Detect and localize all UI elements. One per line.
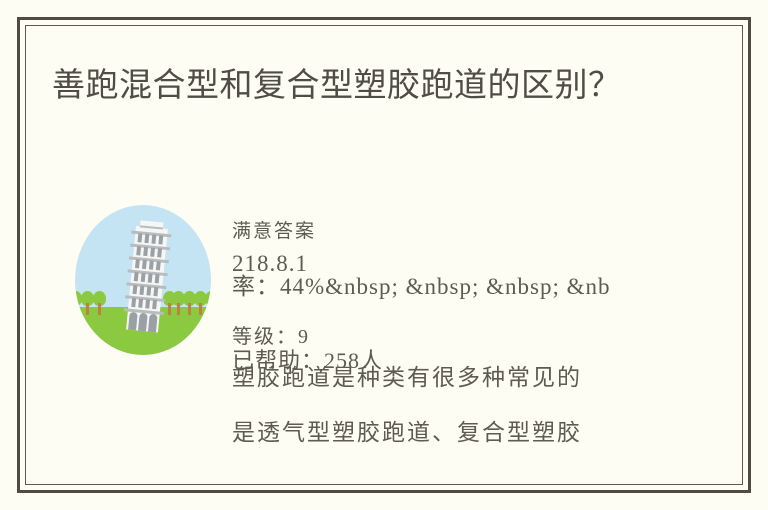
answer-body-line-1: 塑胶跑道是种类有很多种常见的 — [232, 358, 582, 392]
tree-icon — [75, 291, 88, 315]
answer-body-line-2: 是透气型塑胶跑道、复合型塑胶 — [232, 413, 582, 447]
tower-archway — [138, 313, 148, 332]
answer-page: 善跑混合型和复合型塑胶跑道的区别？ — [0, 0, 768, 510]
tower-archway — [128, 312, 138, 331]
page-title: 善跑混合型和复合型塑胶跑道的区别？ — [52, 62, 672, 108]
illustration-leaning-tower-of-pisa — [75, 205, 211, 355]
answer-text-block: 满意答案 218.8.1 率：44%&nbsp; &nbsp; &nbsp; &… — [232, 210, 752, 450]
tower-archway — [148, 314, 158, 333]
tree-icon — [93, 291, 106, 315]
tree-icon — [205, 291, 211, 315]
illustration-circle — [75, 205, 211, 355]
satisfactory-answer-label: 满意答案 — [232, 216, 316, 243]
answer-rate-line: 率：44%&nbsp; &nbsp; &nbsp; &nb — [232, 267, 611, 301]
